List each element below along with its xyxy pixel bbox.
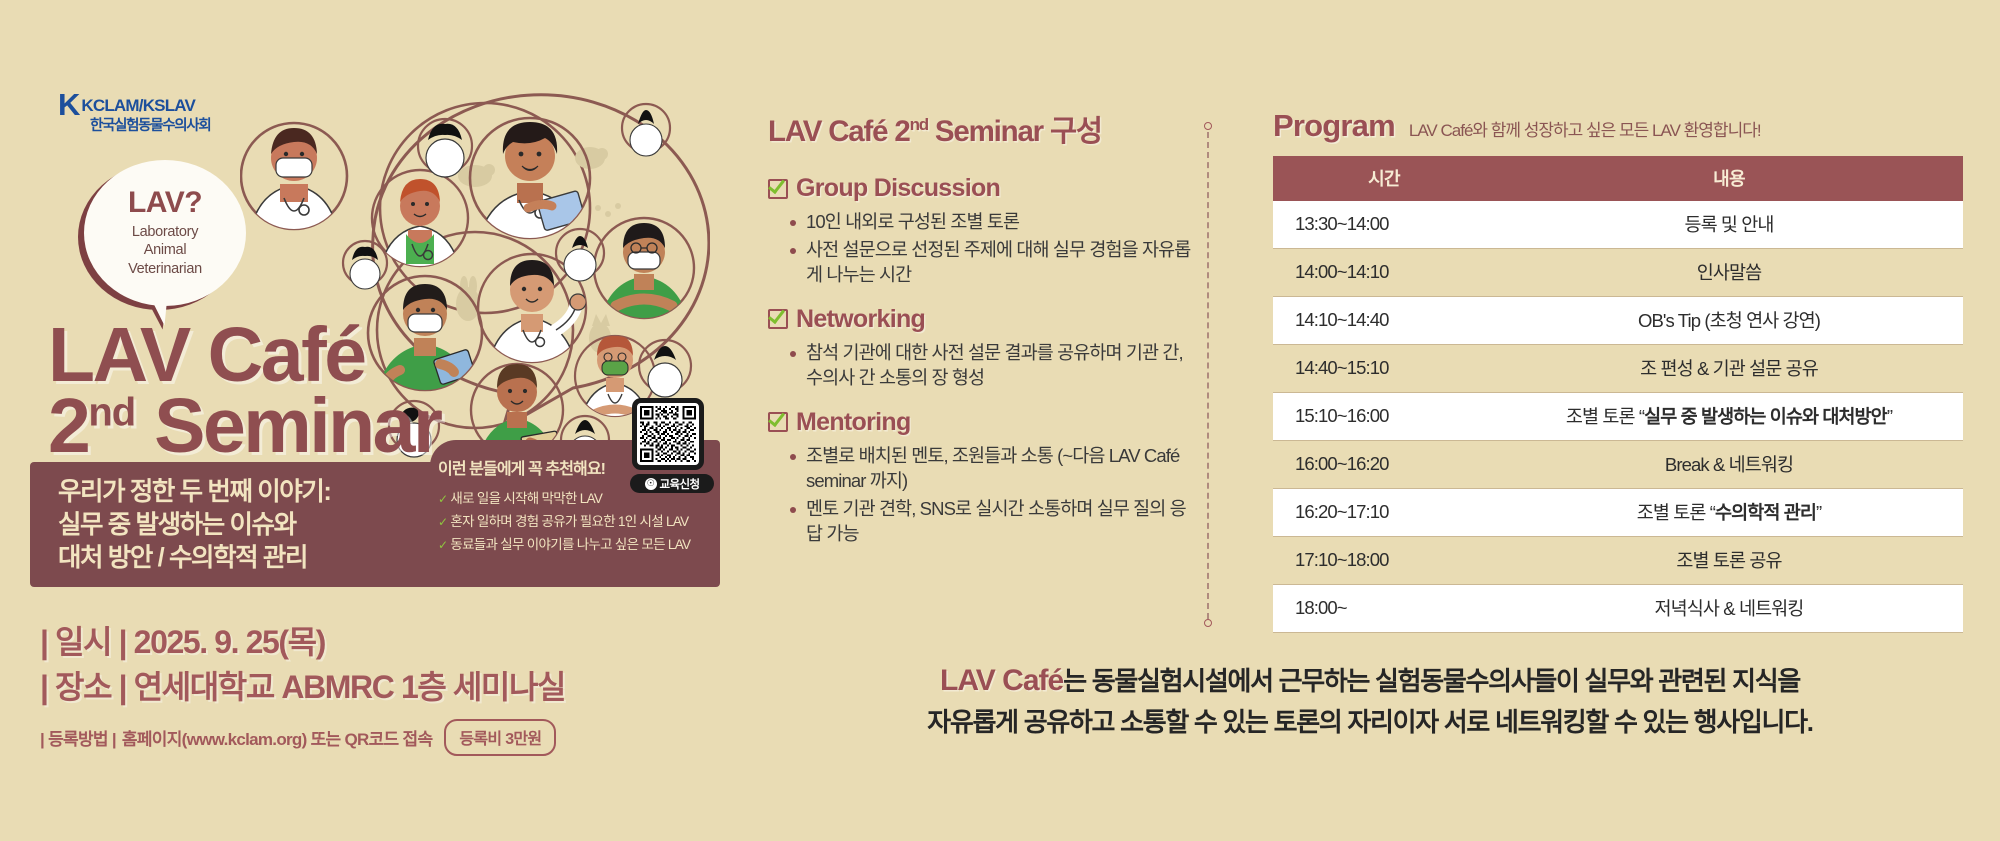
education-apply-badge[interactable]: ☉ 교육신청 — [630, 474, 714, 493]
recommendation-item: ✓혼자 일하며 경험 공유가 필요한 1인 시설 LAV — [438, 510, 708, 533]
table-row: 14:00~14:10인사말씀 — [1273, 249, 1963, 297]
left-column: K KCLAM/KSLAV 한국실험동물수의사회 LAV? Laboratory… — [0, 0, 740, 841]
table-row: 16:20~17:10조별 토론 “수의학적 관리” — [1273, 489, 1963, 537]
column-header-content: 내용 — [1495, 156, 1963, 201]
cell-content: 조별 토론 “수의학적 관리” — [1495, 489, 1963, 537]
portrait-vet-green-shirt — [372, 170, 468, 270]
page-title: LAV Café 2nd Seminar — [48, 320, 440, 462]
footer-line-2: 자유롭게 공유하고 소통할 수 있는 토론의 자리이자 서로 네트워킹할 수 있… — [760, 703, 1980, 742]
list-item: 사전 설문으로 선정된 주제에 대해 실무 경험을 자유롭게 나누는 시간 — [768, 237, 1198, 288]
table-row: 18:00~저녁식사 & 네트워킹 — [1273, 585, 1963, 633]
portrait-waving-vet — [478, 254, 586, 366]
list-item: 10인 내외로 구성된 조별 토론 — [768, 209, 1198, 235]
cell-content: Break & 네트워킹 — [1495, 441, 1963, 489]
cell-time: 17:10~18:00 — [1273, 537, 1495, 585]
footer-line-1: LAV Café는 동물실험시설에서 근무하는 실험동물수의사들이 실무와 관련… — [760, 658, 1980, 703]
cell-time: 15:10~16:00 — [1273, 393, 1495, 441]
check-icon: ✓ — [438, 492, 447, 506]
checkbox-icon — [768, 309, 788, 329]
divider-dot-top — [1204, 122, 1212, 130]
section-name: Mentoring — [796, 408, 911, 437]
place-value: 연세대학교 ABMRC 1층 세미나실 — [134, 669, 565, 705]
event-info-block: | 일시 | 2025. 9. 25(목) | 장소 | 연세대학교 ABMRC… — [40, 620, 565, 756]
qr-code-pattern — [640, 406, 696, 462]
cell-time: 13:30~14:00 — [1273, 201, 1495, 249]
cell-content: OB's Tip (초청 연사 강연) — [1495, 297, 1963, 345]
title-line-2: 2nd Seminar — [48, 391, 440, 462]
lav-expansion-line-1: Laboratory — [128, 223, 202, 242]
section-header: Group Discussion — [768, 174, 1198, 203]
composition-column: LAV Café 2nd Seminar 구성 Group Discussion… — [768, 108, 1198, 564]
theme-text: 우리가 정한 두 번째 이야기: 실무 중 발생하는 이슈와 대처 방안 / 수… — [58, 476, 331, 575]
divider-line — [1207, 132, 1209, 619]
fee-badge: 등록비 3만원 — [444, 719, 556, 756]
theme-line-1: 우리가 정한 두 번째 이야기: — [58, 476, 331, 509]
qr-registration-block[interactable]: ☉ 교육신청 — [632, 398, 716, 493]
program-schedule-table: 시간 내용 13:30~14:00등록 및 안내14:00~14:10인사말씀1… — [1273, 156, 1963, 633]
table-row: 15:10~16:00조별 토론 “실무 중 발생하는 이슈와 대처방안” — [1273, 393, 1963, 441]
cell-content: 인사말씀 — [1495, 249, 1963, 297]
cell-time: 14:10~14:40 — [1273, 297, 1495, 345]
list-item: 멘토 기관 견학, SNS로 실시간 소통하며 실무 질의 응답 가능 — [768, 496, 1198, 547]
cell-time: 16:20~17:10 — [1273, 489, 1495, 537]
check-icon: ✓ — [438, 538, 447, 552]
cell-content: 조별 토론 공유 — [1495, 537, 1963, 585]
lav-expansion-line-2: Animal — [128, 241, 202, 260]
inner-ring-upper — [380, 103, 590, 313]
portrait-female-vet-tablet — [470, 118, 590, 243]
lav-expansion-line-3: Veterinarian — [128, 260, 202, 279]
education-apply-label: 교육신청 — [660, 476, 700, 492]
section-items: 참석 기관에 대한 사전 설문 결과를 공유하며 기관 간, 수의사 간 소통의… — [768, 340, 1198, 391]
program-rows: 13:30~14:00등록 및 안내14:00~14:10인사말씀14:10~1… — [1273, 201, 1963, 633]
cell-time: 18:00~ — [1273, 585, 1495, 633]
footer-line-1-rest: 는 동물실험시설에서 근무하는 실험동물수의사들이 실무와 관련된 지식을 — [1063, 666, 1800, 696]
program-header: Program LAV Café와 함께 성장하고 싶은 모든 LAV 환영합니… — [1273, 108, 1963, 144]
theme-line-3: 대처 방안 / 수의학적 관리 — [58, 542, 331, 575]
program-subtitle: LAV Café와 함께 성장하고 싶은 모든 LAV 환영합니다! — [1409, 116, 1761, 141]
column-header-time: 시간 — [1273, 156, 1495, 201]
check-icon: ✓ — [438, 515, 447, 529]
section-name: Group Discussion — [796, 174, 1000, 203]
lav-expansion: Laboratory Animal Veterinarian — [128, 223, 202, 279]
event-date-row: | 일시 | 2025. 9. 25(목) — [40, 620, 565, 665]
program-title: Program — [1273, 108, 1395, 144]
table-header-row: 시간 내용 — [1273, 156, 1963, 201]
composition-section: Group Discussion 10인 내외로 구성된 조별 토론 사전 설문… — [768, 174, 1198, 288]
portrait-arms-crossed — [594, 218, 694, 322]
lav-abbreviation: LAV? — [128, 188, 202, 218]
title-line-1: LAV Café — [48, 320, 440, 391]
divider-dot-bottom — [1204, 619, 1212, 627]
globe-icon: ☉ — [645, 478, 657, 490]
organization-logo: K KCLAM/KSLAV 한국실험동물수의사회 — [58, 92, 238, 135]
portrait-lone-vet — [241, 123, 347, 233]
cell-time: 14:40~15:10 — [1273, 345, 1495, 393]
theme-line-2: 실무 중 발생하는 이슈와 — [58, 509, 331, 542]
checkbox-icon — [768, 179, 788, 199]
date-value: 2025. 9. 25(목) — [134, 624, 325, 660]
cell-content: 조 편성 & 기관 설문 공유 — [1495, 345, 1963, 393]
list-item: 참석 기관에 대한 사전 설문 결과를 공유하며 기관 간, 수의사 간 소통의… — [768, 340, 1198, 391]
footer-description: LAV Café는 동물실험시설에서 근무하는 실험동물수의사들이 실무와 관련… — [760, 658, 1980, 742]
bubble-body: LAV? Laboratory Animal Veterinarian — [84, 160, 246, 306]
register-label: | 등록방법 | — [40, 725, 116, 750]
composition-section: Networking 참석 기관에 대한 사전 설문 결과를 공유하며 기관 간… — [768, 305, 1198, 391]
logo-korean-name: 한국실험동물수의사회 — [90, 119, 238, 135]
footer-brand: LAV Café — [940, 664, 1063, 697]
composition-heading: LAV Café 2nd Seminar 구성 — [768, 108, 1198, 150]
cell-content: 등록 및 안내 — [1495, 201, 1963, 249]
cell-content: 조별 토론 “실무 중 발생하는 이슈와 대처방안” — [1495, 393, 1963, 441]
table-row: 13:30~14:00등록 및 안내 — [1273, 201, 1963, 249]
logo-english-name: KCLAM/KSLAV — [81, 97, 195, 114]
program-column: Program LAV Café와 함께 성장하고 싶은 모든 LAV 환영합니… — [1273, 108, 1963, 633]
event-place-row: | 장소 | 연세대학교 ABMRC 1층 세미나실 — [40, 665, 565, 710]
register-value: 홈페이지(www.kclam.org) 또는 QR코드 접속 — [122, 725, 432, 750]
theme-banner: 우리가 정한 두 번째 이야기: 실무 중 발생하는 이슈와 대처 방안 / 수… — [30, 462, 720, 587]
poster-canvas: K KCLAM/KSLAV 한국실험동물수의사회 LAV? Laboratory… — [0, 0, 2000, 841]
logo-k-mark: K — [58, 92, 78, 118]
table-row: 17:10~18:00조별 토론 공유 — [1273, 537, 1963, 585]
section-header: Networking — [768, 305, 1198, 334]
table-row: 14:40~15:10조 편성 & 기관 설문 공유 — [1273, 345, 1963, 393]
section-header: Mentoring — [768, 408, 1198, 437]
place-label: | 장소 | — [40, 669, 126, 705]
table-row: 16:00~16:20Break & 네트워킹 — [1273, 441, 1963, 489]
date-label: | 일시 | — [40, 624, 126, 660]
section-name: Networking — [796, 305, 925, 334]
recommendation-item: ✓동료들과 실무 이야기를 나누고 싶은 모든 LAV — [438, 533, 708, 556]
qr-code[interactable] — [632, 398, 704, 470]
cell-time: 14:00~14:10 — [1273, 249, 1495, 297]
cell-time: 16:00~16:20 — [1273, 441, 1495, 489]
composition-section: Mentoring 조별로 배치된 멘토, 조원들과 소통 (~다음 LAV C… — [768, 408, 1198, 547]
animal-silhouettes — [456, 147, 621, 353]
list-item: 조별로 배치된 멘토, 조원들과 소통 (~다음 LAV Café semina… — [768, 443, 1198, 494]
event-register-row: | 등록방법 | 홈페이지(www.kclam.org) 또는 QR코드 접속 … — [40, 719, 565, 756]
column-divider — [1207, 122, 1209, 627]
checkbox-icon — [768, 412, 788, 432]
section-items: 10인 내외로 구성된 조별 토론 사전 설문으로 선정된 주제에 대해 실무 … — [768, 209, 1198, 288]
table-row: 14:10~14:40OB's Tip (초청 연사 강연) — [1273, 297, 1963, 345]
cell-content: 저녁식사 & 네트워킹 — [1495, 585, 1963, 633]
lav-definition-bubble: LAV? Laboratory Animal Veterinarian — [78, 160, 246, 312]
section-items: 조별로 배치된 멘토, 조원들과 소통 (~다음 LAV Café semina… — [768, 443, 1198, 547]
